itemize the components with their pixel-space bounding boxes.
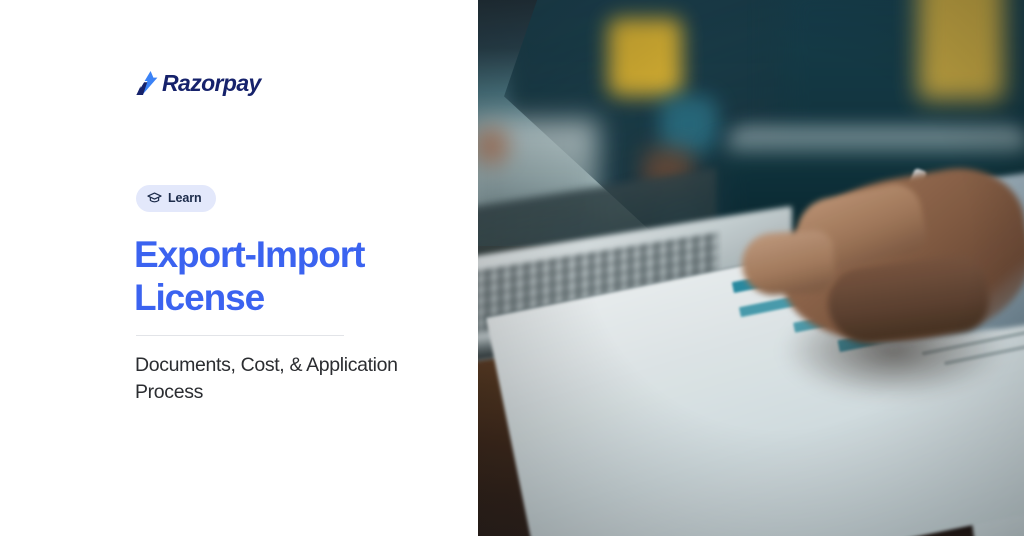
hero-photo [478, 0, 1024, 536]
left-content-panel: Razorpay Learn Export-Import License Doc… [0, 0, 478, 536]
graduation-cap-icon [147, 191, 162, 206]
page-title: Export-Import License [134, 234, 464, 320]
title-divider [136, 335, 344, 336]
photo-vignette [478, 0, 1024, 536]
page-subtitle: Documents, Cost, & Application Process [135, 352, 465, 405]
learn-badge-label: Learn [168, 192, 202, 205]
razorpay-wordmark: Razorpay [162, 72, 261, 95]
razorpay-logo[interactable]: Razorpay [136, 68, 261, 98]
learn-banner: Razorpay Learn Export-Import License Doc… [0, 0, 1024, 536]
razorpay-arrow-icon [136, 71, 158, 95]
learn-badge[interactable]: Learn [136, 185, 216, 212]
